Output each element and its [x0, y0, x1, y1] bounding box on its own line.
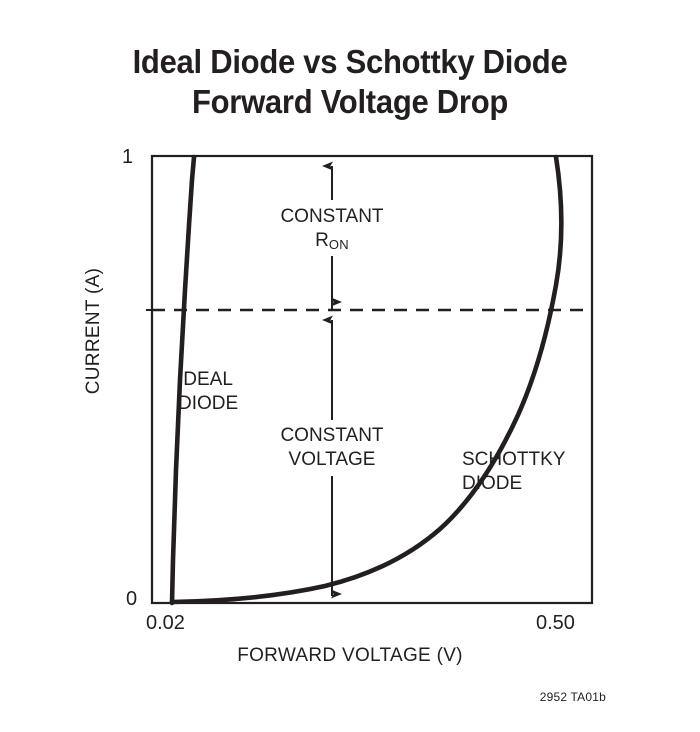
- annotation-constant-voltage-line-2: VOLTAGE: [252, 448, 412, 472]
- y-axis-title: CURRENT (A): [83, 231, 105, 431]
- annotation-ron-subscript: ON: [329, 237, 349, 252]
- series-label-schottky-diode-line-1: SCHOTTKY: [462, 448, 565, 472]
- y-axis-tick-label-max: 1: [122, 146, 133, 169]
- annotation-constant-ron-line-1: CONSTANT: [252, 205, 412, 229]
- annotation-constant-ron: CONSTANT RON: [252, 205, 412, 254]
- y-axis-tick-label-min: 0: [126, 588, 137, 611]
- series-label-schottky-diode-line-2: DIODE: [462, 472, 565, 496]
- annotation-ron-symbol: R: [315, 230, 329, 251]
- series-label-ideal-diode-line-1: IDEAL: [178, 368, 238, 392]
- figure-panel: Ideal Diode vs Schottky Diode Forward Vo…: [0, 0, 700, 732]
- series-label-ideal-diode: IDEAL DIODE: [178, 368, 238, 416]
- series-label-schottky-diode: SCHOTTKY DIODE: [462, 448, 565, 496]
- plot-canvas: [0, 0, 700, 732]
- x-axis-title: FORWARD VOLTAGE (V): [0, 645, 700, 667]
- figure-reference-code: 2952 TA01b: [446, 690, 606, 704]
- annotation-constant-voltage: CONSTANT VOLTAGE: [252, 424, 412, 472]
- series-label-ideal-diode-line-2: DIODE: [178, 392, 238, 416]
- annotation-constant-voltage-line-1: CONSTANT: [252, 424, 412, 448]
- annotation-constant-ron-line-2: RON: [252, 229, 412, 254]
- x-axis-tick-label-min: 0.02: [146, 612, 185, 635]
- x-axis-tick-label-max: 0.50: [536, 612, 575, 635]
